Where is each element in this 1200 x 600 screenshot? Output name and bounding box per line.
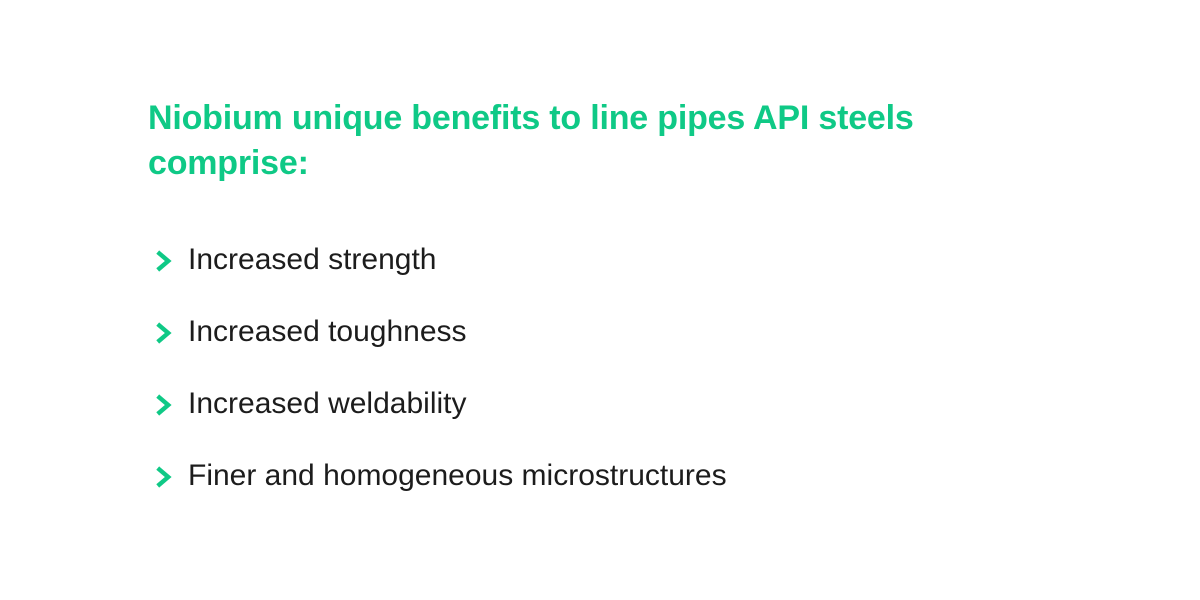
chevron-right-icon — [156, 390, 174, 420]
chevron-right-icon — [156, 462, 174, 492]
chevron-right-icon — [156, 318, 174, 348]
benefits-list: Increased strength Increased toughness I… — [156, 240, 976, 528]
page-title: Niobium unique benefits to line pipes AP… — [148, 96, 938, 186]
list-item: Increased strength — [156, 240, 976, 312]
slide-content: Niobium unique benefits to line pipes AP… — [148, 96, 1008, 186]
list-item: Increased weldability — [156, 384, 976, 456]
list-item-label: Increased strength — [188, 240, 436, 280]
list-item-label: Increased toughness — [188, 312, 467, 352]
slide-canvas: Niobium unique benefits to line pipes AP… — [0, 0, 1200, 600]
chevron-right-icon — [156, 246, 174, 276]
list-item-label: Finer and homogeneous microstructures — [188, 456, 727, 496]
list-item-label: Increased weldability — [188, 384, 466, 424]
list-item: Increased toughness — [156, 312, 976, 384]
list-item: Finer and homogeneous microstructures — [156, 456, 976, 528]
